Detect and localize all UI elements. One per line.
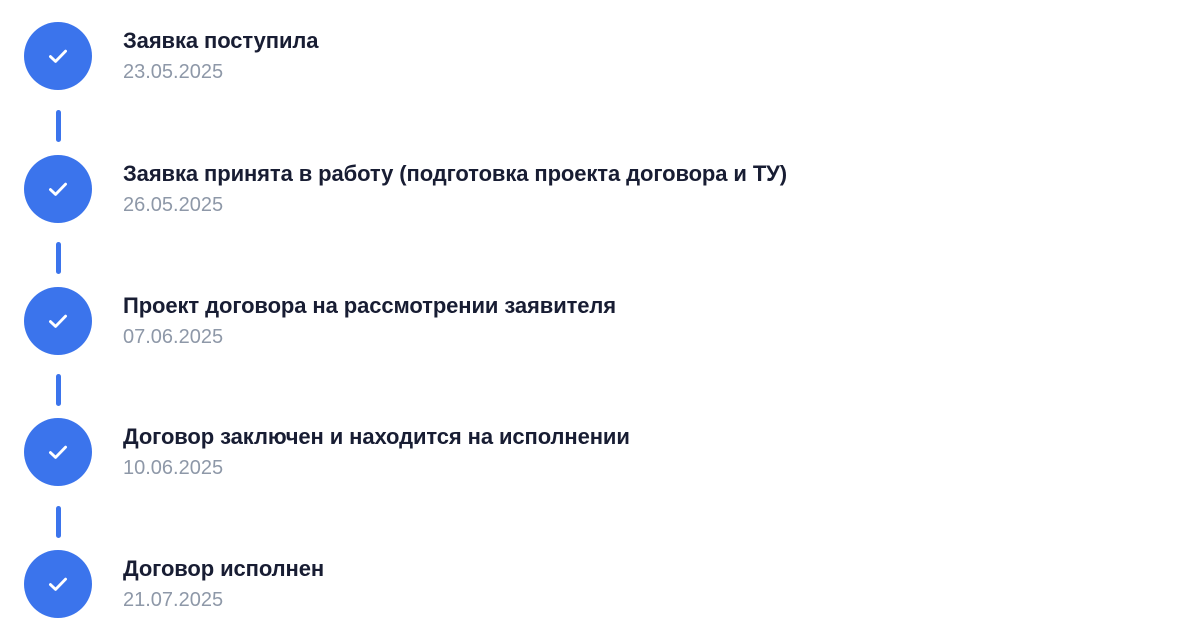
step-title: Заявка принята в работу (подготовка прое… xyxy=(123,161,787,187)
step-content: Договор заключен и находится на исполнен… xyxy=(123,418,630,486)
check-icon xyxy=(45,176,71,202)
step-content: Договор исполнен 21.07.2025 xyxy=(123,550,324,618)
timeline-step[interactable]: Договор заключен и находится на исполнен… xyxy=(0,418,1200,486)
step-title: Заявка поступила xyxy=(123,28,318,54)
step-marker-completed xyxy=(24,155,92,223)
timeline-connector xyxy=(56,242,61,274)
step-marker-completed xyxy=(24,418,92,486)
check-icon xyxy=(45,43,71,69)
step-marker-completed xyxy=(24,287,92,355)
timeline-connector xyxy=(56,110,61,142)
timeline-connector xyxy=(56,374,61,406)
step-title: Договор исполнен xyxy=(123,556,324,582)
step-date: 21.07.2025 xyxy=(123,588,324,612)
check-icon xyxy=(45,439,71,465)
step-content: Заявка поступила 23.05.2025 xyxy=(123,22,318,90)
timeline-connector xyxy=(56,506,61,538)
step-date: 23.05.2025 xyxy=(123,60,318,84)
step-date: 07.06.2025 xyxy=(123,325,616,349)
step-title: Договор заключен и находится на исполнен… xyxy=(123,424,630,450)
check-icon xyxy=(45,571,71,597)
timeline-step[interactable]: Проект договора на рассмотрении заявител… xyxy=(0,287,1200,355)
step-marker-completed xyxy=(24,550,92,618)
check-icon xyxy=(45,308,71,334)
status-timeline: Заявка поступила 23.05.2025 Заявка приня… xyxy=(0,0,1200,641)
timeline-step[interactable]: Договор исполнен 21.07.2025 xyxy=(0,550,1200,618)
timeline-step[interactable]: Заявка поступила 23.05.2025 xyxy=(0,22,1200,90)
step-content: Проект договора на рассмотрении заявител… xyxy=(123,287,616,355)
step-date: 26.05.2025 xyxy=(123,193,787,217)
timeline-step[interactable]: Заявка принята в работу (подготовка прое… xyxy=(0,155,1200,223)
step-title: Проект договора на рассмотрении заявител… xyxy=(123,293,616,319)
step-content: Заявка принята в работу (подготовка прое… xyxy=(123,155,787,223)
step-date: 10.06.2025 xyxy=(123,456,630,480)
step-marker-completed xyxy=(24,22,92,90)
